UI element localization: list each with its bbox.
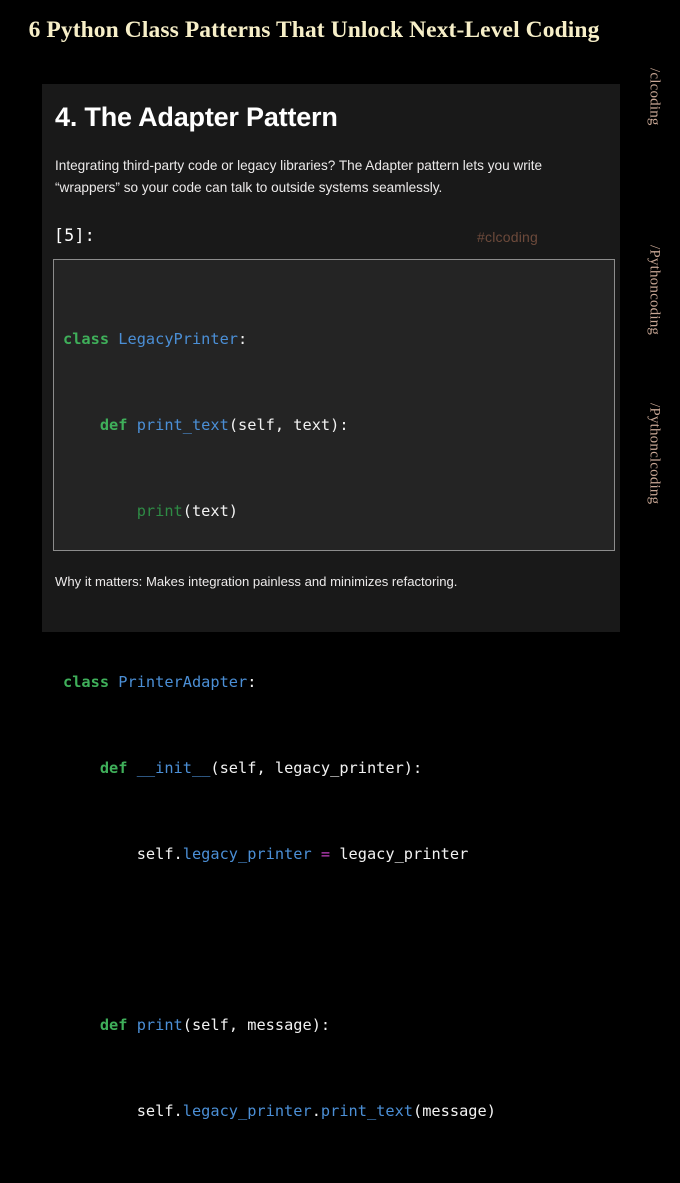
pattern-card: 4. The Adapter Pattern Integrating third…	[42, 84, 620, 632]
code-line: def print(self, message):	[63, 1011, 614, 1040]
social-sidebar: /clcoding /Pythoncoding /Pythonclcoding	[628, 0, 680, 680]
cell-prompt-label: [5]:	[54, 226, 95, 245]
cell-prompt-row: [5]: #clcoding	[54, 226, 606, 250]
code-line: self.legacy_printer.print_text(message)	[63, 1097, 614, 1126]
code-line: def print_text(self, text):	[63, 411, 614, 440]
card-heading: 4. The Adapter Pattern	[55, 102, 338, 133]
sidebar-label-pythoncoding: /Pythoncoding	[646, 245, 663, 335]
card-description: Integrating third-party code or legacy l…	[55, 155, 603, 199]
code-block[interactable]: class LegacyPrinter: def print_text(self…	[53, 259, 615, 551]
code-line: class PrinterAdapter:	[63, 668, 614, 697]
sidebar-label-clcoding: /clcoding	[646, 68, 663, 126]
page-root: 6 Python Class Patterns That Unlock Next…	[0, 0, 680, 680]
code-line: class LegacyPrinter:	[63, 325, 614, 354]
code-line: def __init__(self, legacy_printer):	[63, 754, 614, 783]
page-title: 6 Python Class Patterns That Unlock Next…	[0, 17, 628, 44]
code-line: print(text)	[63, 497, 614, 526]
watermark-label: #clcoding	[477, 229, 538, 245]
code-line	[63, 926, 614, 955]
card-footer: Why it matters: Makes integration painle…	[55, 574, 457, 589]
sidebar-label-pythonclcoding: /Pythonclcoding	[646, 403, 663, 504]
code-line: self.legacy_printer = legacy_printer	[63, 840, 614, 869]
